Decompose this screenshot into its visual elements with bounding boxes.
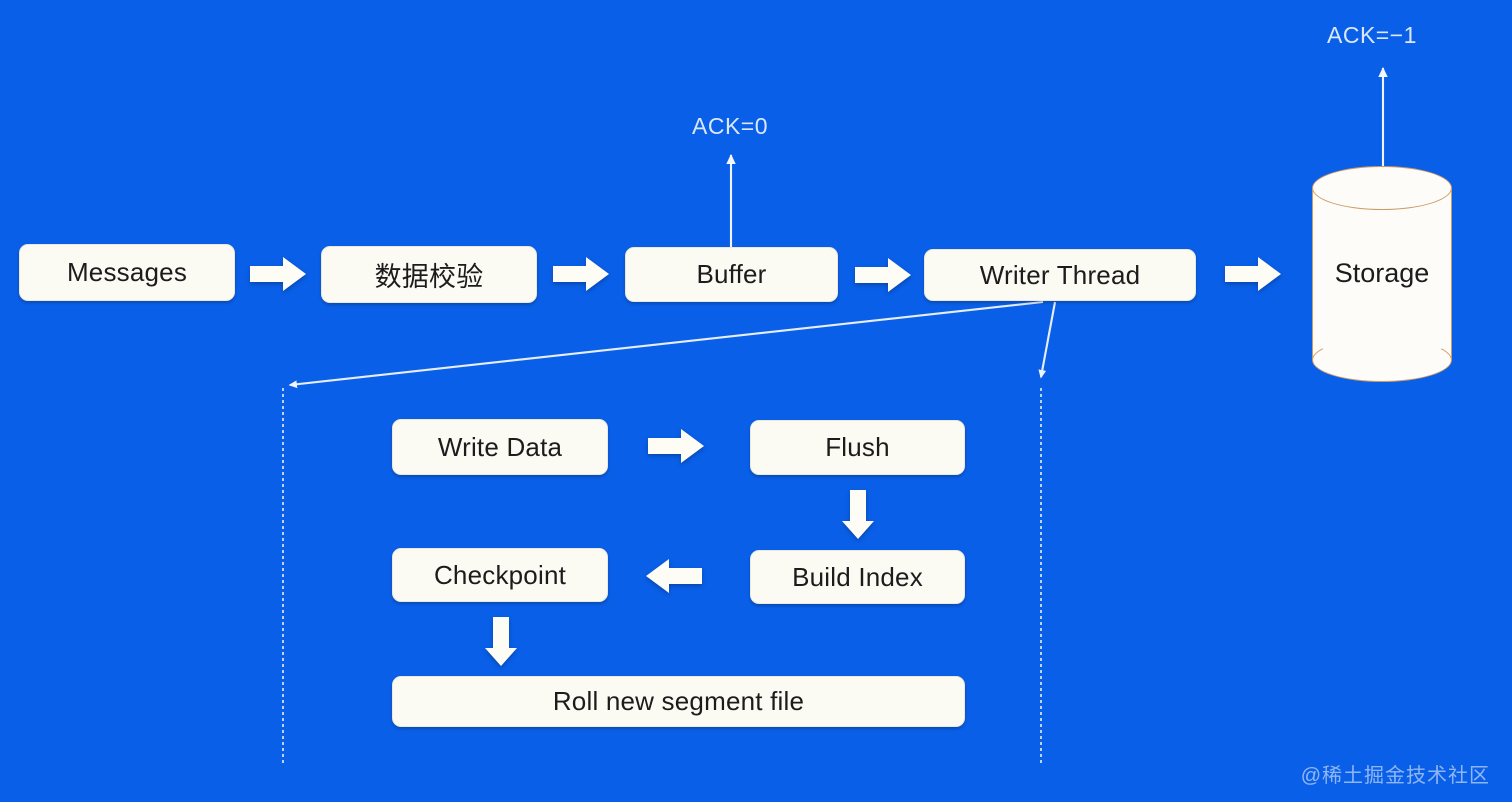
- node-storage[interactable]: Storage: [1312, 166, 1452, 382]
- node-buffer[interactable]: Buffer: [625, 247, 838, 302]
- cylinder-top-ellipse: [1312, 166, 1452, 210]
- arrow-down-checkpoint-to-roll-segment: [484, 617, 518, 667]
- node-checkpoint[interactable]: Checkpoint: [392, 548, 608, 602]
- node-storage-label: Storage: [1320, 257, 1444, 291]
- cylinder-bottom-ellipse: [1312, 338, 1452, 382]
- arrow-right-buffer-to-writer: [855, 257, 912, 293]
- node-roll-new-segment-file[interactable]: Roll new segment file: [392, 676, 965, 727]
- arrow-right-writer-to-storage: [1225, 256, 1282, 292]
- diagram-canvas: ACK=0 ACK=−1 Messages 数据校验 Buffer Writer…: [0, 0, 1512, 802]
- node-data-check[interactable]: 数据校验: [321, 246, 537, 303]
- node-write-data[interactable]: Write Data: [392, 419, 608, 475]
- writer-to-detail-right-line: [1041, 302, 1055, 377]
- arrow-right-check-to-buffer: [553, 256, 610, 292]
- node-writer-thread[interactable]: Writer Thread: [924, 249, 1196, 301]
- arrow-down-flush-to-build-index: [841, 490, 875, 540]
- arrow-left-build-index-to-checkpoint: [645, 558, 702, 594]
- node-flush[interactable]: Flush: [750, 420, 965, 475]
- writer-to-detail-left-line: [290, 302, 1043, 385]
- node-messages[interactable]: Messages: [19, 244, 235, 301]
- ack-label-minus-one: ACK=−1: [1327, 22, 1417, 49]
- ack-label-zero: ACK=0: [692, 113, 768, 140]
- arrow-right-write-data-to-flush: [648, 428, 705, 464]
- node-build-index[interactable]: Build Index: [750, 550, 965, 604]
- arrow-right-messages-to-check: [250, 256, 307, 292]
- watermark-text: @稀土掘金技术社区: [1301, 759, 1490, 788]
